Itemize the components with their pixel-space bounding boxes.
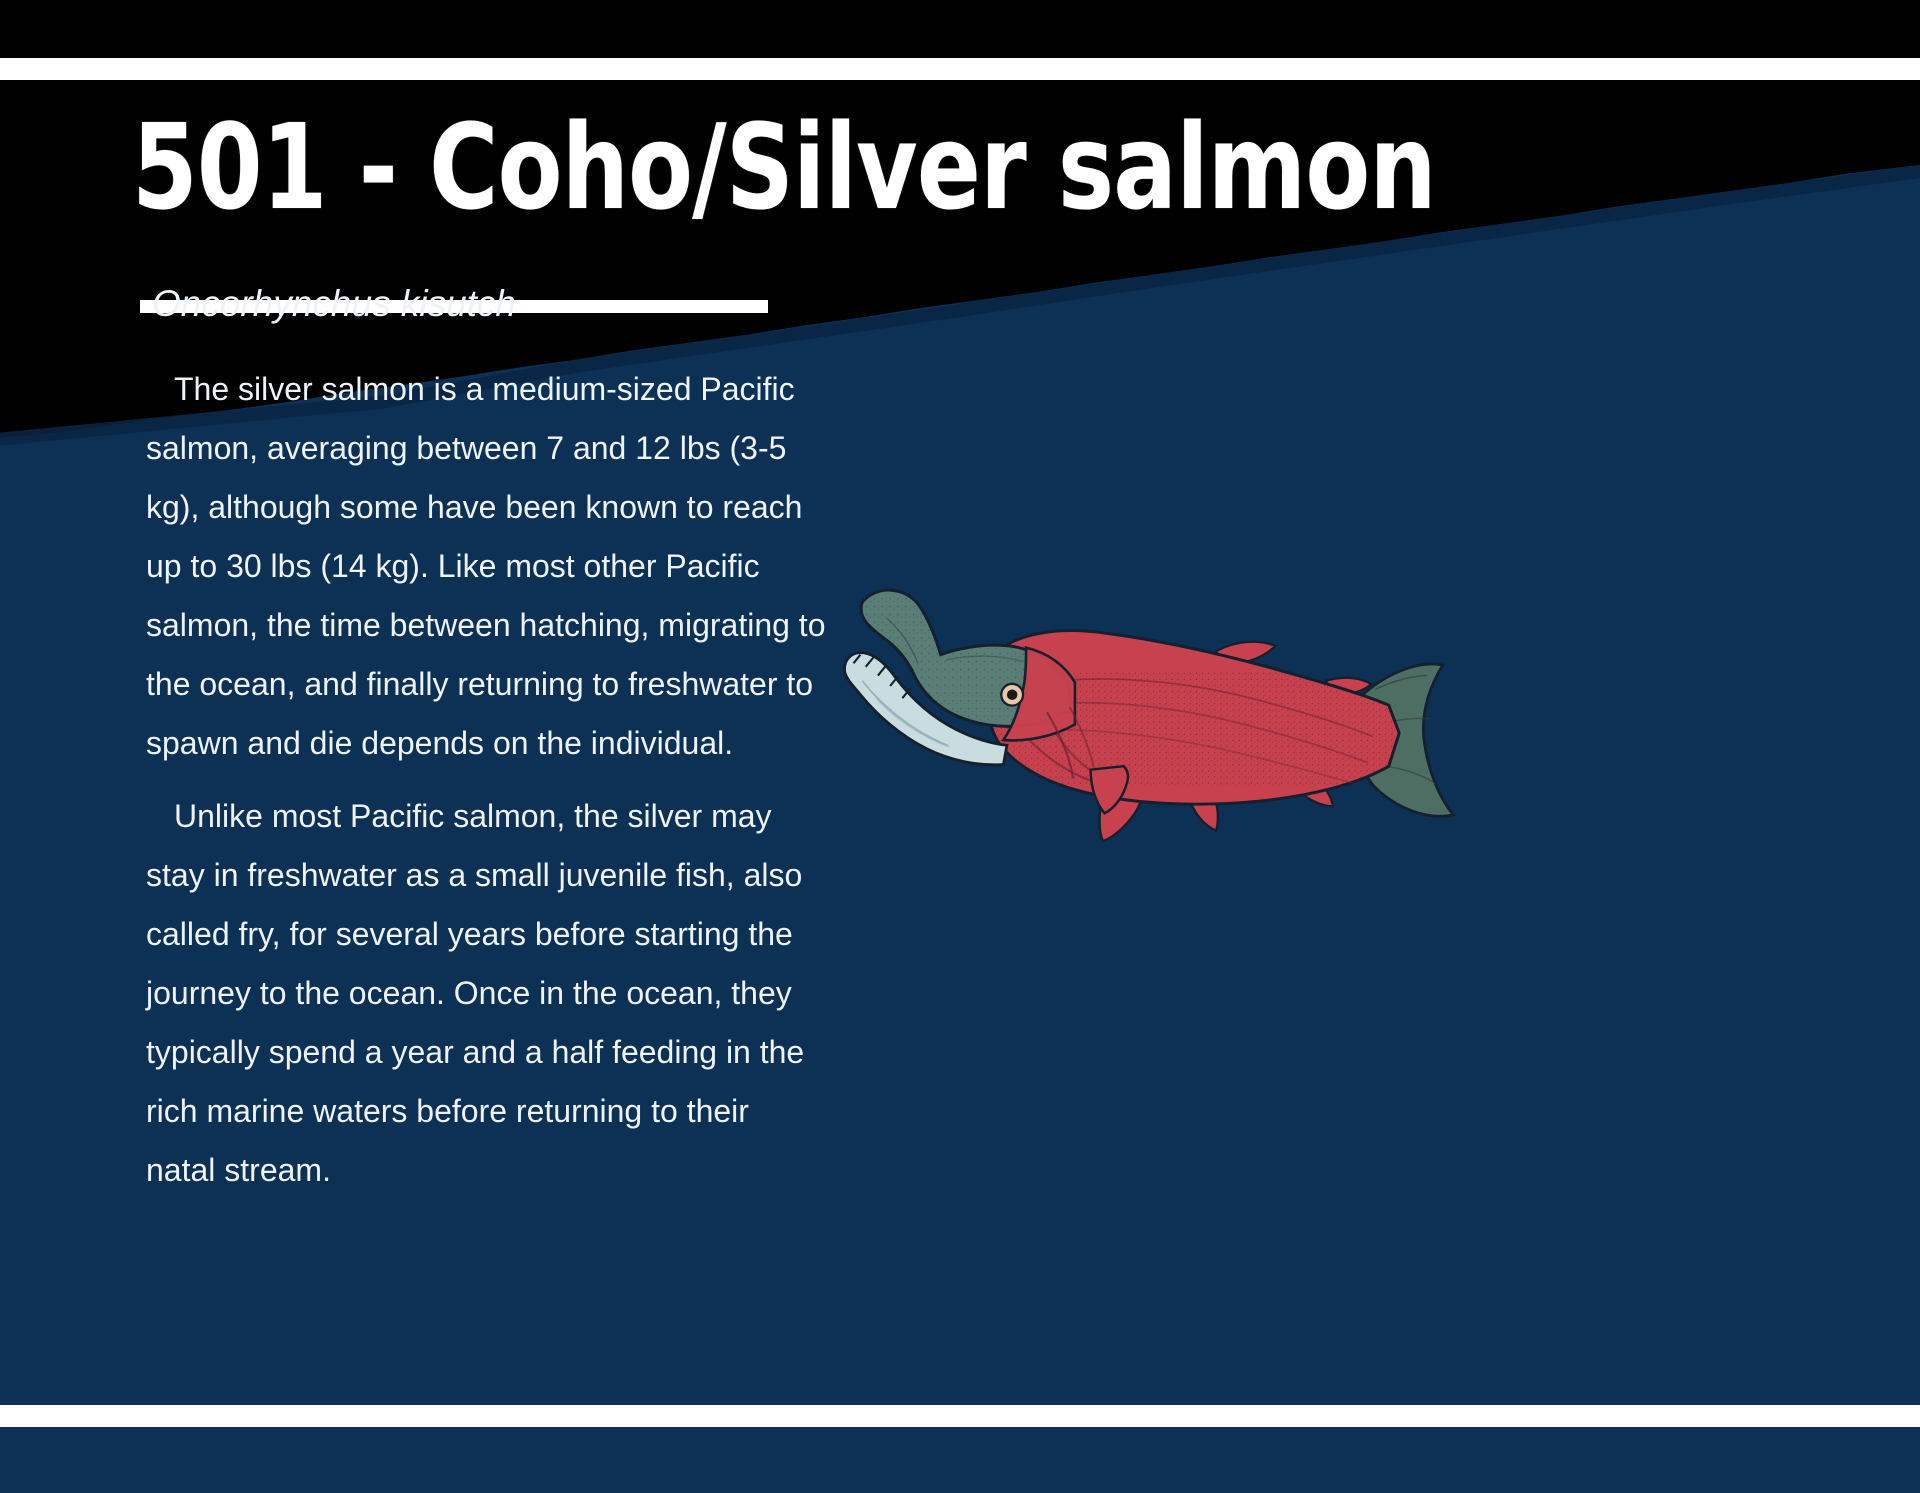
fish-eye [1001, 684, 1023, 706]
bottom-white-divider [0, 1405, 1920, 1427]
top-black-band [0, 0, 1920, 58]
scientific-name: Oncorhynchus kisutch [152, 283, 516, 325]
paragraph-1: The silver salmon is a medium-sized Paci… [146, 360, 826, 773]
slide-canvas: 501 - Coho/Silver salmon Oncorhynchus ki… [0, 0, 1920, 1493]
body-copy: The silver salmon is a medium-sized Paci… [146, 360, 826, 1214]
top-white-divider [0, 58, 1920, 80]
page-title: 501 - Coho/Silver salmon [132, 108, 1436, 226]
coho-salmon-illustration [840, 550, 1540, 890]
bottom-navy-band [0, 1427, 1920, 1493]
paragraph-2: Unlike most Pacific salmon, the silver m… [146, 787, 826, 1200]
